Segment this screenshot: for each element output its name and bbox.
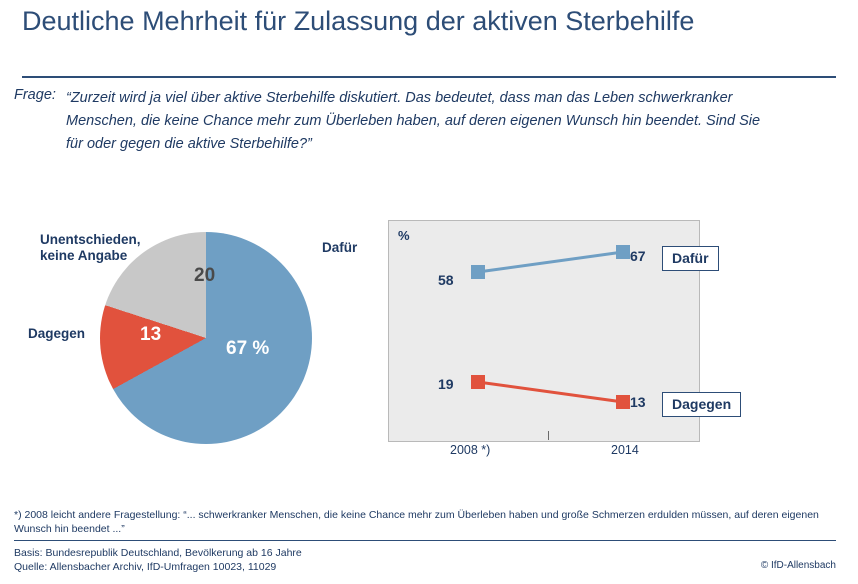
divider-bottom: [14, 540, 836, 541]
poster-root: Deutliche Mehrheit für Zulassung der akt…: [0, 0, 858, 584]
legend-dafuer: Dafür: [662, 246, 719, 271]
source-line-basis: Basis: Bundesrepublik Deutschland, Bevöl…: [14, 546, 302, 560]
axis-tick-mid: [548, 431, 549, 440]
question-label: Frage:: [14, 87, 56, 103]
legend-dagegen: Dagegen: [662, 392, 741, 417]
pie-label-dafuer: Dafür: [322, 240, 357, 256]
pie-label-unentschieden-line2: keine Angabe: [40, 248, 141, 264]
line-value-dagegen-2008: 19: [438, 376, 454, 392]
pie-value-unentschieden: 20: [194, 265, 215, 287]
pie-label-unentschieden: Unentschieden, keine Angabe: [40, 232, 141, 264]
pie-value-dafuer: 67 %: [226, 338, 269, 360]
source-line-quelle: Quelle: Allensbacher Archiv, IfD-Umfrage…: [14, 560, 302, 574]
line-value-dafuer-2014: 67: [630, 248, 646, 264]
pie-label-unentschieden-line1: Unentschieden,: [40, 232, 141, 248]
question-text: “Zurzeit wird ja viel über aktive Sterbe…: [66, 87, 771, 156]
page-title: Deutliche Mehrheit für Zulassung der akt…: [22, 6, 722, 37]
copyright: © IfD-Allensbach: [761, 560, 836, 571]
line-chart-svg: [388, 220, 698, 440]
line-value-dagegen-2014: 13: [630, 394, 646, 410]
line-value-dafuer-2008: 58: [438, 272, 454, 288]
divider-top: [22, 76, 836, 78]
source-block: Basis: Bundesrepublik Deutschland, Bevöl…: [14, 546, 302, 574]
axis-label-2014: 2014: [611, 443, 639, 457]
pie-value-dagegen: 13: [140, 324, 161, 346]
axis-label-2008: 2008 *): [450, 443, 490, 457]
footnote: *) 2008 leicht andere Fragestellung: “..…: [14, 508, 824, 536]
pie-label-dagegen: Dagegen: [28, 326, 85, 342]
